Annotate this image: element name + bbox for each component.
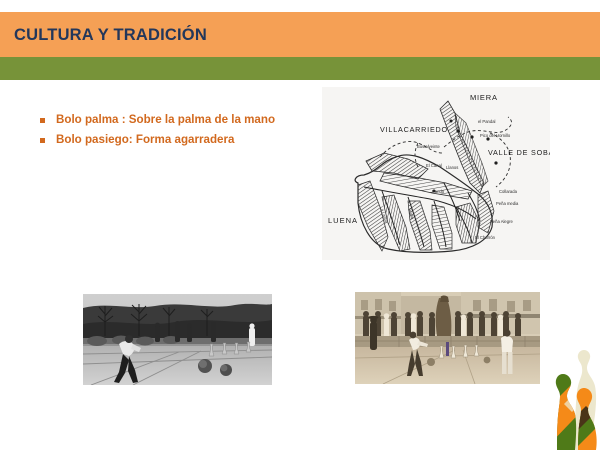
map-label-bustalveinte: Bustalveinte — [417, 144, 440, 149]
map-sketch-image: MIERA VILLACARRIEDO VALLE DE SOBA LUENA … — [322, 87, 550, 260]
map-label-pico-hornillo: Pico del Hornillo — [480, 133, 511, 138]
map-label-llanos: Llanos — [446, 165, 458, 170]
list-item: Bolo pasiego: Forma agarradera — [40, 132, 340, 148]
bowling-pins-logo — [546, 344, 600, 450]
map-label-el-pandal: el Pandal — [478, 119, 496, 124]
photo-bolos-court — [83, 294, 272, 385]
page-title: CULTURA Y TRADICIÓN — [14, 26, 207, 45]
bullet-list: Bolo palma : Sobre la palma de la mano B… — [40, 112, 340, 151]
square-bullet-icon — [40, 138, 45, 143]
map-label-villacarriedo: VILLACARRIEDO — [380, 125, 448, 134]
map-label-el-churron: El Churrón — [475, 235, 496, 240]
map-label-pena-media: Peña media — [496, 201, 519, 206]
map-label-valle-de-soba: VALLE DE SOBA — [488, 148, 550, 157]
map-label-pando: Pando — [432, 189, 445, 194]
list-item: Bolo palma : Sobre la palma de la mano — [40, 112, 340, 128]
bullet-text: Bolo palma : Sobre la palma de la mano — [56, 112, 275, 128]
map-label-miera: MIERA — [470, 93, 498, 102]
square-bullet-icon — [40, 118, 45, 123]
map-label-luena: LUENA — [328, 216, 358, 225]
map-label-collarada: Collarada — [499, 189, 518, 194]
header-green-band — [0, 57, 600, 80]
map-label-el-canal: El Canal — [426, 163, 442, 168]
bullet-text: Bolo pasiego: Forma agarradera — [56, 132, 234, 148]
map-label-pena-alegre: Peña Alegre — [490, 219, 513, 224]
photo-bolos-historic — [355, 292, 540, 384]
